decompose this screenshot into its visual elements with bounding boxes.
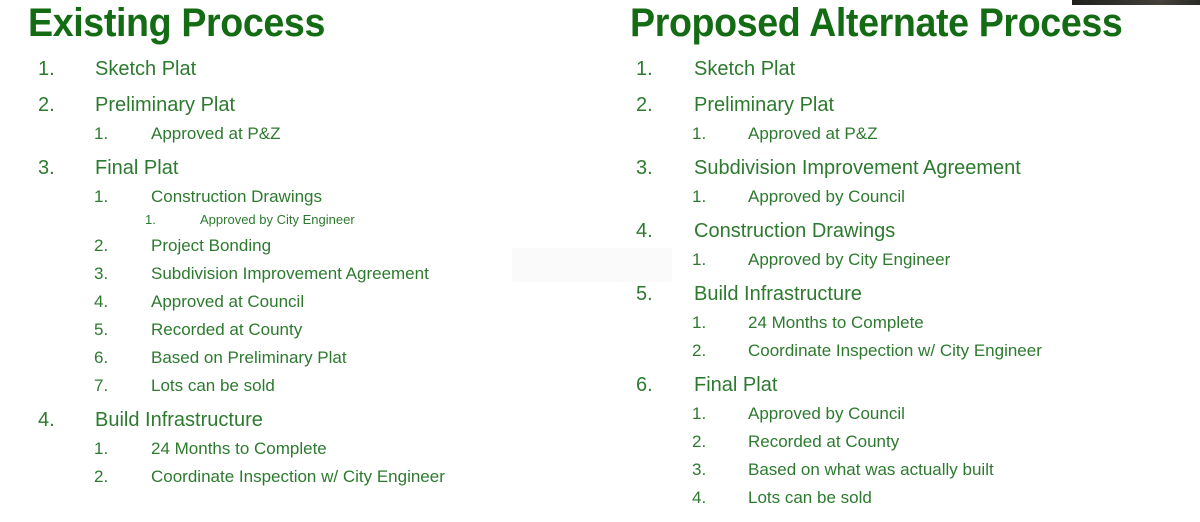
- outline-item-level-2: 1.Approved by Council: [600, 188, 1200, 206]
- outline-item-level-1: 1.Sketch Plat: [600, 59, 1200, 80]
- outline-item-number: 1.: [38, 59, 95, 80]
- outline-item-level-3: 1.Approved by City Engineer: [0, 213, 600, 227]
- outline-item-label: Coordinate Inspection w/ City Engineer: [748, 342, 1042, 360]
- outline-item-level-1: 3.Final Plat: [0, 158, 600, 179]
- column-proposed-alternate-process: Proposed Alternate Process 1.Sketch Plat…: [600, 0, 1200, 507]
- outline-item-number: 2.: [38, 95, 95, 116]
- outline-item-level-2: 1.Approved at P&Z: [0, 125, 600, 143]
- outline-item-level-1: 4.Construction Drawings: [600, 221, 1200, 242]
- outline-item-level-2: 6.Based on Preliminary Plat: [0, 349, 600, 367]
- outline-item-label: Sketch Plat: [694, 59, 795, 80]
- outline-item-level-2: 1.Approved by Council: [600, 405, 1200, 423]
- outline-item-number: 2.: [692, 342, 748, 360]
- outline-item-label: Subdivision Improvement Agreement: [151, 265, 429, 283]
- outline-item-level-1: 2.Preliminary Plat: [0, 95, 600, 116]
- outline-item-number: 4.: [692, 489, 748, 507]
- outline-item-label: Approved at Council: [151, 293, 304, 311]
- outline-item-label: Sketch Plat: [95, 59, 196, 80]
- outline-item-label: Preliminary Plat: [95, 95, 235, 116]
- outline-item-label: Project Bonding: [151, 237, 271, 255]
- outline-item-level-2: 1.Approved at P&Z: [600, 125, 1200, 143]
- outline-item-number: 2.: [636, 95, 694, 116]
- outline-item-level-1: 4.Build Infrastructure: [0, 410, 600, 431]
- outline-item-label: Based on Preliminary Plat: [151, 349, 347, 367]
- outline-item-label: Build Infrastructure: [95, 410, 263, 431]
- outline-item-level-2: 1.24 Months to Complete: [0, 440, 600, 458]
- outline-item-number: 1.: [692, 314, 748, 332]
- outline-item-level-2: 2.Recorded at County: [600, 433, 1200, 451]
- outline-item-number: 4.: [636, 221, 694, 242]
- outline-item-label: Coordinate Inspection w/ City Engineer: [151, 468, 445, 486]
- outline-item-number: 2.: [692, 433, 748, 451]
- outline-item-number: 2.: [94, 468, 151, 486]
- outline-item-number: 1.: [145, 213, 200, 227]
- outline-item-number: 3.: [636, 158, 694, 179]
- outline-list-existing: 1.Sketch Plat2.Preliminary Plat1.Approve…: [0, 59, 600, 486]
- outline-item-label: Approved by City Engineer: [748, 251, 950, 269]
- outline-item-number: 4.: [94, 293, 151, 311]
- outline-item-level-2: 4.Approved at Council: [0, 293, 600, 311]
- outline-item-level-1: 1.Sketch Plat: [0, 59, 600, 80]
- outline-item-level-2: 1.Construction Drawings: [0, 188, 600, 206]
- outline-item-number: 1.: [692, 405, 748, 423]
- outline-item-number: 1.: [94, 125, 151, 143]
- outline-item-number: 1.: [94, 188, 151, 206]
- outline-item-number: 1.: [636, 59, 694, 80]
- outline-item-number: 6.: [94, 349, 151, 367]
- outline-item-label: 24 Months to Complete: [748, 314, 924, 332]
- outline-item-label: Final Plat: [95, 158, 178, 179]
- outline-item-label: Subdivision Improvement Agreement: [694, 158, 1021, 179]
- outline-item-number: 1.: [94, 440, 151, 458]
- outline-item-level-2: 3.Based on what was actually built: [600, 461, 1200, 479]
- top-edge-artifact: [1072, 0, 1200, 5]
- outline-item-level-1: 5.Build Infrastructure: [600, 284, 1200, 305]
- outline-item-level-2: 2.Coordinate Inspection w/ City Engineer: [600, 342, 1200, 360]
- outline-item-level-1: 2.Preliminary Plat: [600, 95, 1200, 116]
- outline-item-label: Construction Drawings: [694, 221, 895, 242]
- column-title-proposed: Proposed Alternate Process: [630, 2, 1166, 44]
- outline-item-level-2: 3.Subdivision Improvement Agreement: [0, 265, 600, 283]
- outline-item-level-2: 2.Project Bonding: [0, 237, 600, 255]
- outline-list-proposed: 1.Sketch Plat2.Preliminary Plat1.Approve…: [600, 59, 1200, 507]
- outline-item-label: Approved by Council: [748, 405, 905, 423]
- outline-item-level-2: 7.Lots can be sold: [0, 377, 600, 395]
- outline-item-label: Construction Drawings: [151, 188, 322, 206]
- outline-item-level-2: 5.Recorded at County: [0, 321, 600, 339]
- outline-item-label: Build Infrastructure: [694, 284, 862, 305]
- outline-item-number: 5.: [94, 321, 151, 339]
- outline-item-number: 7.: [94, 377, 151, 395]
- outline-item-label: Lots can be sold: [748, 489, 872, 507]
- outline-item-number: 4.: [38, 410, 95, 431]
- outline-item-level-1: 3.Subdivision Improvement Agreement: [600, 158, 1200, 179]
- outline-item-number: 1.: [692, 125, 748, 143]
- outline-item-label: Based on what was actually built: [748, 461, 994, 479]
- outline-item-level-2: 2.Coordinate Inspection w/ City Engineer: [0, 468, 600, 486]
- column-title-existing: Existing Process: [28, 2, 566, 44]
- outline-item-level-1: 6.Final Plat: [600, 375, 1200, 396]
- outline-item-label: Approved by City Engineer: [200, 213, 355, 227]
- outline-item-level-2: 1.24 Months to Complete: [600, 314, 1200, 332]
- outline-item-number: 3.: [692, 461, 748, 479]
- outline-item-number: 3.: [94, 265, 151, 283]
- outline-item-number: 2.: [94, 237, 151, 255]
- outline-item-number: 1.: [692, 251, 748, 269]
- outline-item-label: Lots can be sold: [151, 377, 275, 395]
- outline-item-number: 1.: [692, 188, 748, 206]
- outline-item-label: Recorded at County: [748, 433, 899, 451]
- outline-item-label: Approved at P&Z: [748, 125, 877, 143]
- outline-item-label: Recorded at County: [151, 321, 302, 339]
- outline-item-number: 6.: [636, 375, 694, 396]
- column-existing-process: Existing Process 1.Sketch Plat2.Prelimin…: [0, 0, 600, 486]
- outline-item-level-2: 1.Approved by City Engineer: [600, 251, 1200, 269]
- outline-item-label: Final Plat: [694, 375, 777, 396]
- slide-canvas: Existing Process 1.Sketch Plat2.Prelimin…: [0, 0, 1200, 522]
- outline-item-label: Approved by Council: [748, 188, 905, 206]
- outline-item-number: 5.: [636, 284, 694, 305]
- outline-item-label: Preliminary Plat: [694, 95, 834, 116]
- outline-item-level-2: 4.Lots can be sold: [600, 489, 1200, 507]
- outline-item-number: 3.: [38, 158, 95, 179]
- outline-item-label: Approved at P&Z: [151, 125, 280, 143]
- outline-item-label: 24 Months to Complete: [151, 440, 327, 458]
